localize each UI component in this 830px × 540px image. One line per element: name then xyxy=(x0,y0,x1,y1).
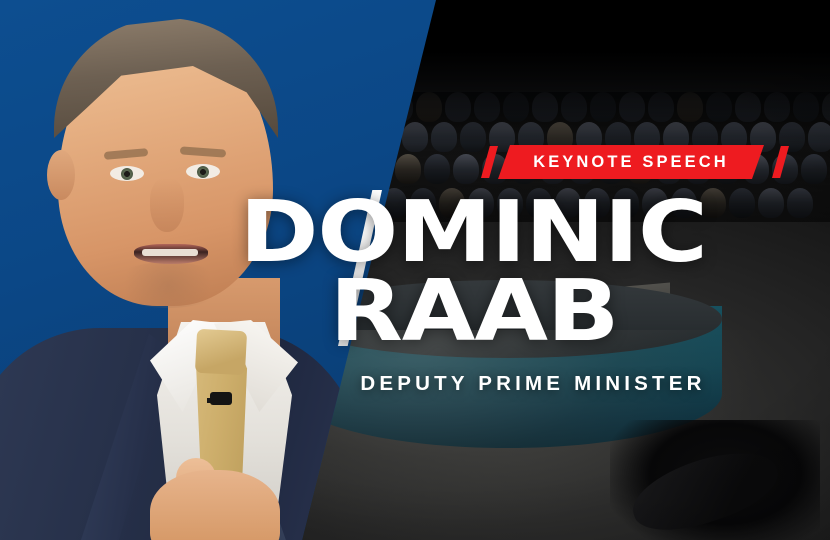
speaker-role-subtitle: DEPUTY PRIME MINISTER xyxy=(118,372,830,396)
promo-graphic: KEYNOTE SPEECH DOMINIC RAAB DEPUTY PRIME… xyxy=(0,0,830,540)
mouth xyxy=(134,244,208,264)
hand xyxy=(150,470,280,540)
nose xyxy=(150,178,184,232)
keynote-banner-label: KEYNOTE SPEECH xyxy=(533,154,729,171)
eye-left xyxy=(110,166,144,181)
chin-shadow xyxy=(110,262,226,308)
keynote-banner: KEYNOTE SPEECH xyxy=(498,145,764,179)
ear xyxy=(47,150,75,200)
eye-right xyxy=(186,164,220,179)
necktie-knot xyxy=(195,329,247,376)
